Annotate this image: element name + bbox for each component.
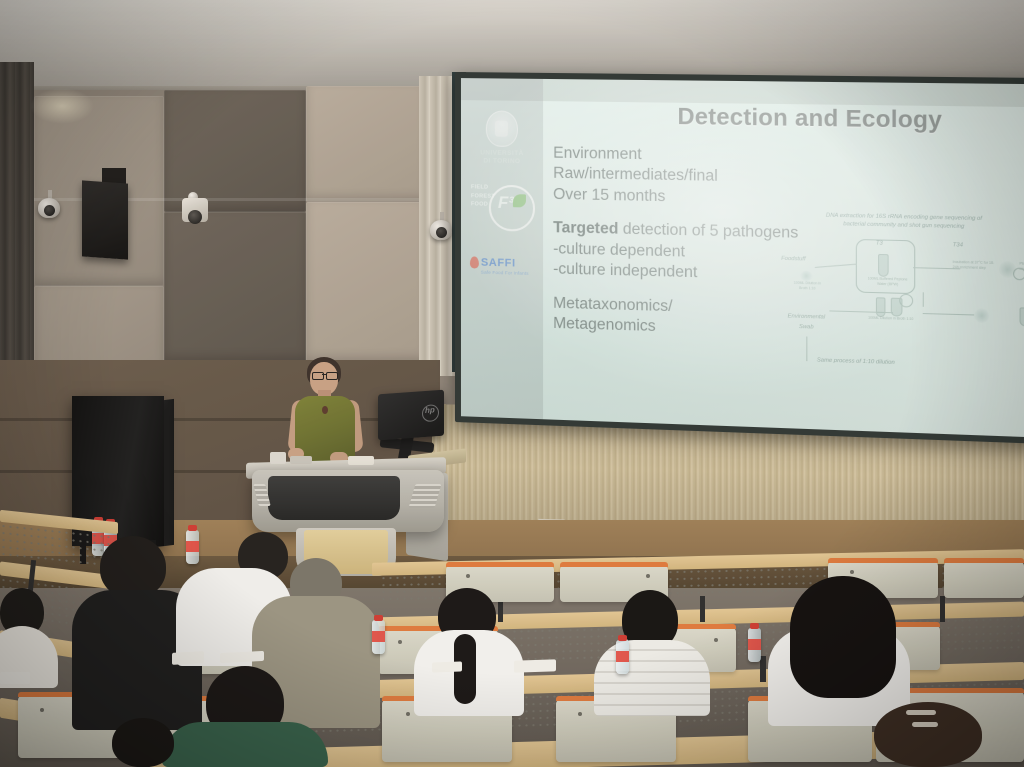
- bottle-label: [186, 541, 199, 552]
- diagram-flask-icon: [891, 298, 903, 317]
- wall-panel: [306, 86, 426, 202]
- desk-leg: [940, 596, 945, 622]
- bottle-cap: [618, 635, 627, 641]
- podium-front-panel: [268, 476, 400, 520]
- logo-unito-line2: DI TORINO: [475, 157, 529, 166]
- chair-fastener: [398, 640, 402, 644]
- chair-fastener: [406, 712, 410, 716]
- saffi-mark-icon: [470, 256, 479, 268]
- diagram-tube-icon: [878, 254, 889, 277]
- logo-f3-letter: F³: [498, 193, 514, 213]
- camera-lens-icon: [44, 205, 55, 216]
- logo-saffi: SAFFI Safe Food For Infants: [471, 256, 533, 276]
- diagram-foodstuff-label: Foodstuff: [781, 256, 805, 263]
- desk-item[interactable]: [290, 456, 312, 464]
- hp-logo-icon: [422, 404, 439, 422]
- bottle-cap: [188, 525, 197, 531]
- water-bottle[interactable]: [372, 620, 385, 654]
- wall-panel: [306, 202, 426, 362]
- diagram-flask-icon: [1020, 307, 1024, 326]
- wall-panel: [164, 90, 306, 212]
- paper-sheet[interactable]: [514, 659, 556, 672]
- desk-leg: [700, 596, 705, 622]
- water-bottle[interactable]: [748, 628, 761, 662]
- chair-fastener: [466, 574, 470, 578]
- attendee-head: [100, 536, 166, 598]
- bottle-label: [616, 651, 629, 662]
- diagram-tube-icon: [876, 297, 886, 317]
- diagram-caption: DNA extraction for 16S rRNA encoding gen…: [824, 212, 984, 232]
- motion-sensor-icon: [182, 198, 208, 222]
- desk-leg: [760, 656, 766, 682]
- hair-clip-icon: [906, 710, 936, 715]
- university-crest-icon: [486, 110, 518, 147]
- slide-diagram: DNA extraction for 16S rRNA encoding gen…: [767, 210, 1024, 395]
- attendee-head: [112, 718, 174, 767]
- chair-fastener: [850, 570, 854, 574]
- diagram-dilution-sublabel: 100ML Dilution in Broth 1:10: [867, 316, 914, 323]
- bottle-label: [748, 639, 761, 650]
- slide-targeted-bold: Targeted: [553, 219, 618, 238]
- hp-monitor[interactable]: [378, 390, 444, 441]
- desk-item[interactable]: [270, 452, 286, 464]
- diagram-dilution-label: Same process of 1:10 dilution: [817, 357, 895, 366]
- logo-universita-di-torino: UNIVERSITÀ DI TORINO: [475, 110, 529, 166]
- screen-surface: UNIVERSITÀ DI TORINO FIELD FOREST FOOD F…: [461, 78, 1024, 438]
- presentation-slide: UNIVERSITÀ DI TORINO FIELD FOREST FOOD F…: [461, 78, 1024, 438]
- logo-saffi-text: SAFFI: [481, 257, 533, 270]
- diagram-env-swab-line1: Environmental: [775, 313, 838, 321]
- diagram-foodstuff-sublabel: 100ML Dilution in Broth 1:10: [790, 281, 826, 292]
- diagram-foodstuff-icon: [800, 271, 813, 282]
- diagram-connector: [815, 264, 857, 268]
- chair-fastener: [646, 574, 650, 578]
- glasses-right-lens: [326, 372, 338, 380]
- attendee-body: [162, 722, 328, 767]
- lecture-hall-screenshot: UNIVERSITÀ DI TORINO FIELD FOREST FOOD F…: [0, 0, 1024, 767]
- chair[interactable]: [944, 562, 1024, 598]
- hair-clip-icon: [912, 722, 938, 727]
- diagram-step-circle-icon: [1013, 268, 1024, 281]
- paper-sheet[interactable]: [0, 672, 30, 684]
- diagram-arrow-shaft: [806, 336, 807, 361]
- ceiling-light-glow: [30, 88, 94, 124]
- wall-speaker: [82, 180, 128, 259]
- glasses-icon: [312, 372, 338, 378]
- security-camera-icon: [430, 220, 452, 240]
- camera-lens-icon: [436, 227, 447, 238]
- logo-field-forest-food: FIELD FOREST FOOD F³: [471, 181, 533, 234]
- projection-screen[interactable]: UNIVERSITÀ DI TORINO FIELD FOREST FOOD F…: [455, 72, 1024, 444]
- bottle-label: [372, 631, 385, 642]
- water-bottle[interactable]: [616, 640, 629, 674]
- chair-fastener: [578, 712, 582, 716]
- diagram-arrow-shaft: [923, 292, 924, 307]
- attendee-hair: [790, 576, 896, 698]
- bottle-cap: [374, 615, 383, 621]
- clip-microphone-icon: [322, 406, 328, 414]
- bottle-cap: [750, 623, 759, 629]
- diagram-plate-icon: [974, 308, 989, 323]
- chair-fastener: [40, 708, 44, 712]
- slide-title: Detection and Ecology: [612, 102, 1011, 135]
- diagram-blurb-left: Incubation at 37°C for 18-24h enrichment…: [953, 260, 996, 272]
- wall-seam: [0, 418, 440, 421]
- diagram-node-t3: T3: [876, 240, 883, 246]
- logo-f3-words: FIELD FOREST FOOD: [471, 183, 490, 209]
- chair-fastener: [714, 638, 718, 642]
- paper-sheet[interactable]: [172, 651, 204, 665]
- diagram-env-swab-line2: Swab: [775, 323, 838, 331]
- water-bottle[interactable]: [186, 530, 199, 564]
- attendee-body: [594, 640, 710, 716]
- diagram-node-t34: T34: [953, 242, 963, 248]
- diagram-connector: [923, 313, 974, 315]
- security-camera-icon: [38, 198, 60, 218]
- diagram-buffer-label: 100ML Buffered Peptone Water (BPW): [863, 276, 912, 288]
- wall-panel: [164, 212, 306, 362]
- desk-item[interactable]: [348, 456, 374, 465]
- paper-sheet[interactable]: [432, 661, 462, 672]
